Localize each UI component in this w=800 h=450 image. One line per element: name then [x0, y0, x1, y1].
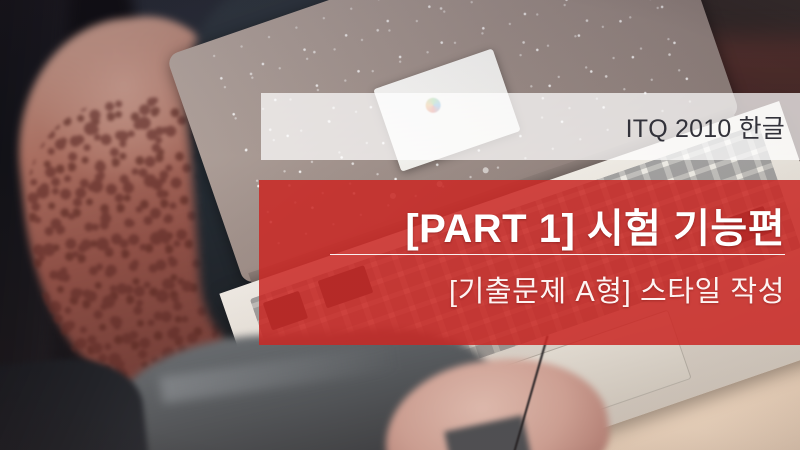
course-banner: ITQ 2010 한글 — [261, 93, 800, 160]
page-subtitle: [기출문제 A형] 스타일 작성 — [449, 268, 785, 310]
title-divider — [330, 254, 785, 255]
title-slide: ITQ 2010 한글 [PART 1] 시험 기능편 [기출문제 A형] 스타… — [0, 0, 800, 450]
course-banner-label: ITQ 2010 한글 — [626, 109, 785, 145]
page-title: [PART 1] 시험 기능편 — [405, 196, 785, 254]
